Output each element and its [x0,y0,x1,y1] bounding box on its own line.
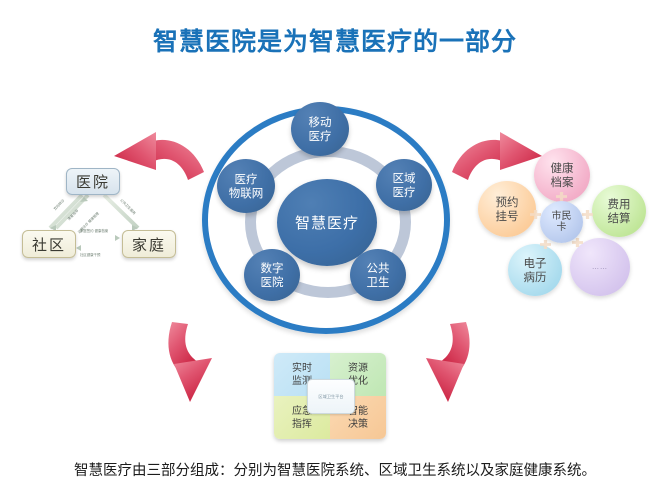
arrow-curved-down-right-icon [448,126,544,198]
regional-health-grid: 实时 监测 资源 优化 应急 指挥 智能 决策 区域卫生平台 [274,353,386,439]
triangle-edge-label-4: 家庭签约 健康档案 [80,228,108,233]
hub-node-medical-iot[interactable]: 医疗 物联网 [217,159,275,213]
hub-node-regional-medical[interactable]: 区域 医疗 [376,159,432,211]
grid-cell-emergency-command-line2: 指挥 [292,418,312,431]
hub-node-mobile-medical-line2: 医疗 [309,129,332,143]
page-title: 智慧医院是为智慧医疗的一部分 [0,22,670,58]
caption-text: 智慧医疗由三部分组成：分别为智慧医院系统、区域卫生系统以及家庭健康系统。 [0,459,670,480]
bubble-electronic-medical-record-line2: 病历 [524,270,547,284]
arrow-curved-down-left-bottom-icon [160,318,240,408]
hub-node-medical-iot-line2: 物联网 [229,186,264,200]
bubble-electronic-medical-record-line1: 电子 [524,256,547,270]
bubble-health-record-line1: 健康 [551,161,574,175]
hub-node-regional-medical-line2: 医疗 [393,185,416,199]
bubble-ellipsis-label: …… [592,260,608,274]
bubble-fee-settlement-line2: 结算 [608,211,631,225]
hub-node-mobile-medical-line1: 移动 [309,115,332,129]
bubble-appointment-registration-line2: 挂号 [496,209,519,223]
grid-center-label: 区域卫生平台 [307,379,355,414]
hub-node-digital-hospital-line1: 数字 [261,261,284,275]
family-box[interactable]: 家庭 [122,230,176,258]
hub-node-medical-iot-line1: 医疗 [235,172,258,186]
community-box[interactable]: 社区 [22,230,76,258]
bubble-health-record-line2: 档案 [551,175,574,189]
arrow-curved-down-right-bottom-icon [398,318,478,408]
arrow-curved-down-left-icon [112,126,208,198]
triangle-edge-label-5: 社区健康干预 [80,252,100,257]
hub-center-label: 智慧医疗 [295,212,359,233]
hub-node-regional-medical-line1: 区域 [393,171,416,185]
bubble-citizen-card-line1: 市民 [552,211,572,223]
grid-cell-resource-optimization-line1: 资源 [348,362,368,375]
grid-cell-realtime-monitoring-line1: 实时 [292,362,312,375]
bubble-fee-settlement-line1: 费用 [608,197,631,211]
bubble-citizen-card[interactable]: 市民 卡 [540,201,583,243]
hub-node-public-health-line1: 公共 [367,261,390,275]
bubble-electronic-medical-record[interactable]: 电子 病历 [508,244,562,296]
hub-node-digital-hospital-line2: 医院 [261,275,284,289]
hub-node-public-health-line2: 卫生 [367,275,390,289]
grid-cell-intelligent-decision-line2: 决策 [348,418,368,431]
hub-node-mobile-medical[interactable]: 移动 医疗 [291,102,349,156]
hub-node-digital-hospital[interactable]: 数字 医院 [244,249,300,301]
hub-node-public-health[interactable]: 公共 卫生 [350,249,406,301]
smart-healthcare-hub: 智慧医疗 移动 医疗 区域 医疗 公共 卫生 数字 医院 医疗 物联网 [196,96,464,348]
bubble-citizen-card-line2: 卡 [557,222,567,234]
bubble-fee-settlement[interactable]: 费用 结算 [592,185,646,237]
